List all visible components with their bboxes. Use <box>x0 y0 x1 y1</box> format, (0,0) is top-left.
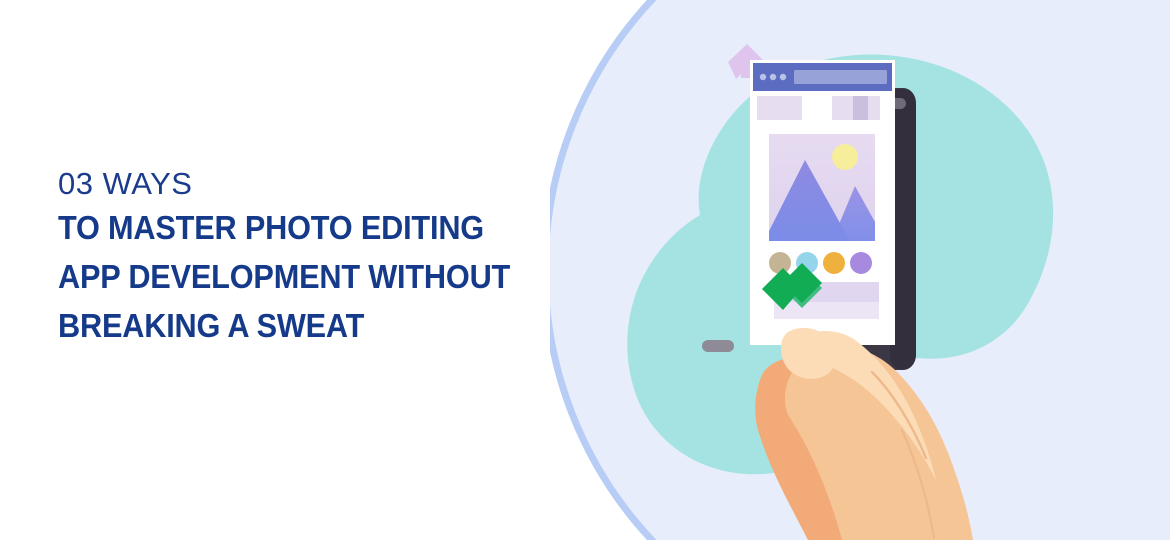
window-dot-icon <box>780 74 786 80</box>
toolbar-block-left <box>757 96 802 120</box>
window-dot-icon <box>760 74 766 80</box>
headline-block: 03 WAYS TO MASTER PHOTO EDITING APP DEVE… <box>58 168 578 342</box>
swatch-khaki <box>769 252 791 274</box>
browser-header-bar <box>753 63 892 91</box>
eyebrow-text: 03 WAYS <box>58 168 578 199</box>
swatch-amber <box>823 252 845 274</box>
swatch-purple <box>850 252 872 274</box>
illustration-hand-holding-phone <box>550 0 1170 540</box>
sun-icon <box>832 144 858 170</box>
window-dot-icon <box>770 74 776 80</box>
promo-banner: 03 WAYS TO MASTER PHOTO EDITING APP DEVE… <box>0 0 1170 540</box>
toolbar-block-accent <box>853 96 868 120</box>
headline-line-2: APP DEVELOPMENT WITHOUT <box>58 260 542 293</box>
headline-line-1: TO MASTER PHOTO EDITING <box>58 211 542 244</box>
address-bar <box>794 70 887 84</box>
app-screen-card <box>750 60 895 345</box>
phone-home-button <box>702 340 734 352</box>
photo-preview <box>764 130 879 245</box>
headline-line-3: BREAKING A SWEAT <box>58 309 542 342</box>
